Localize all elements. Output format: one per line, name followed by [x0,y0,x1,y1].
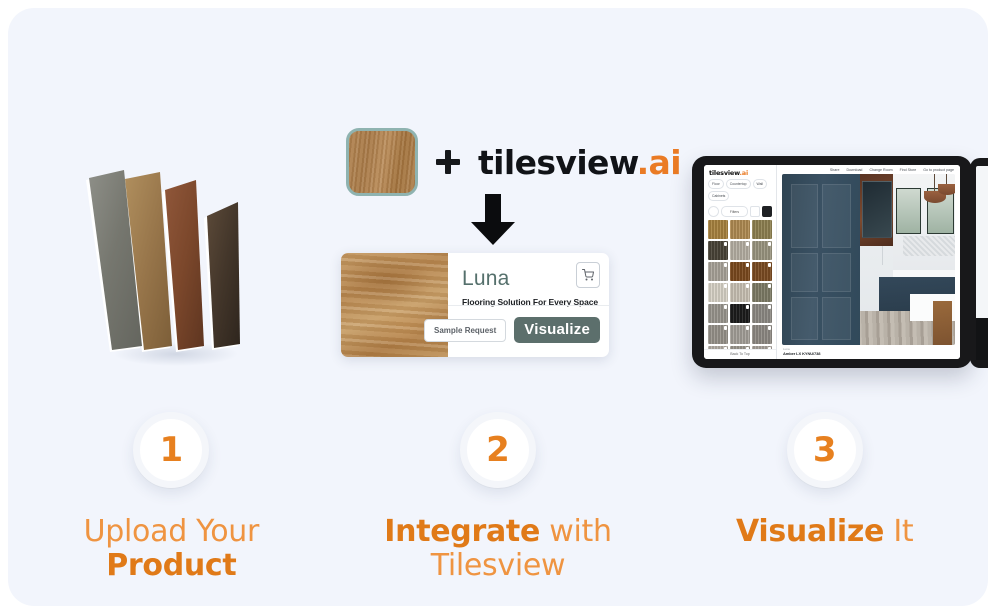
caption-main: Amber LX KYNU/738 [783,351,954,356]
kitchen-counter [893,270,955,277]
tile-swatch[interactable] [708,304,728,323]
tile-swatch[interactable] [752,283,772,302]
room-visualization[interactable] [782,174,955,345]
tablet-brand-suffix: .ai [740,169,748,177]
content-panel: tilesview.ai Luna Flooring Solution For … [8,8,988,606]
tilesview-logo: tilesview.ai [478,146,681,179]
swatch-badge-icon [768,305,772,309]
step-1-circle: 1 [133,412,209,488]
chip-wall[interactable]: Wall [753,179,767,189]
brand-name: tilesview [478,143,637,182]
tile-swatch[interactable] [730,220,750,239]
step-1-line2: Product [106,548,236,583]
step-3-number: 3 [813,433,837,467]
swatch-badge-icon [724,326,728,330]
step-3-circle: 3 [787,412,863,488]
step-1: 1 Upload Your Product [8,412,335,582]
tile-swatch[interactable] [752,304,772,323]
step-1-label: Upload Your Product [84,515,259,582]
grid-view-icon[interactable] [762,206,772,217]
tablet-app: tilesview.ai Floor Countertop Wall Cabin… [704,165,960,359]
step-3-light: It [884,514,913,549]
shopping-cart-icon[interactable] [576,262,600,288]
swatch-badge-icon [768,326,772,330]
swatch-badge-icon [746,326,750,330]
kitchen-tall-cabinets [782,174,860,345]
chip-countertop[interactable]: Countertop [726,179,751,189]
tile-swatch[interactable] [752,262,772,281]
tile-swatch[interactable] [752,220,772,239]
swatch-badge-icon [746,284,750,288]
tablet-brand-name: tilesview [709,169,740,177]
flooring-plank-samples [78,168,278,378]
down-arrow-icon [470,194,516,246]
tablet-category-chips: Floor Countertop Wall Cabinets [704,179,776,204]
swatch-badge-icon [746,263,750,267]
step-3: 3 Visualize It [661,412,988,549]
tablet-logo: tilesview.ai [704,165,776,179]
swatch-badge-icon [724,263,728,267]
pendant-cord-1 [934,174,935,193]
tablet-device: tilesview.ai Floor Countertop Wall Cabin… [692,156,972,368]
kitchen-glass-cabinet [862,181,892,238]
step-2-number: 2 [486,433,510,467]
swatch-badge-icon [724,305,728,309]
step-3-bold: Visualize [736,514,884,549]
toolbar-share[interactable]: Share [830,168,840,172]
toolbar-download[interactable]: Download [846,168,862,172]
kitchen-chair [933,301,952,345]
edge-device-dark-area [976,318,988,360]
step-2-circle: 2 [460,412,536,488]
tile-swatch[interactable] [730,283,750,302]
tile-swatch[interactable] [708,325,728,344]
tile-plus-brand-row: tilesview.ai [346,128,681,196]
step-1-line1: Upload Your [84,514,259,549]
swatch-badge-icon [746,305,750,309]
tablet-screen: tilesview.ai Floor Countertop Wall Cabin… [704,165,960,359]
tile-swatch[interactable] [708,241,728,260]
brand-suffix: .ai [637,143,681,182]
wood-tile-swatch [346,128,418,196]
tile-swatch[interactable] [752,325,772,344]
swatch-badge-icon [746,242,750,246]
kitchen-window-left [896,188,920,234]
tile-swatch[interactable] [708,220,728,239]
kitchen-faucet [882,246,883,265]
swatch-badge-icon [768,347,772,349]
swatch-badge-icon [724,242,728,246]
product-card[interactable]: Luna Flooring Solution For Every Space S… [341,253,609,357]
room-caption: Luna Amber LX KYNU/738 [777,345,960,359]
toolbar-find-store[interactable]: Find Store [900,168,917,172]
product-card-actions: Sample Request Visualize [462,317,600,343]
step-2-label: Integrate with Tilesview [384,515,611,582]
swatch-badge-icon [768,242,772,246]
card-divider [448,305,609,306]
sample-request-button[interactable]: Sample Request [424,319,506,342]
swatch-badge-icon [768,263,772,267]
steps-row: 1 Upload Your Product 2 Integrate with T… [8,412,988,602]
search-icon[interactable] [708,206,719,217]
swatch-badge-icon [724,284,728,288]
tile-swatch[interactable] [730,346,750,349]
chip-cabinets[interactable]: Cabinets [708,191,729,201]
swatch-badge-icon [724,347,728,349]
step-2-line2: Tilesview [431,548,566,583]
tablet-toolbar: Share Download Change Room Find Store Go… [777,165,960,174]
tile-swatch[interactable] [752,346,772,349]
tablet-filter-bar: Filters [704,204,776,220]
toolbar-change-room[interactable]: Change Room [869,168,892,172]
tile-swatch[interactable] [730,262,750,281]
back-to-top-link[interactable]: Back To Top [704,349,776,359]
step-2-light: with [540,514,612,549]
plus-icon [436,150,460,174]
tablet-main: Share Download Change Room Find Store Go… [777,165,960,359]
step-2: 2 Integrate with Tilesview [335,412,662,582]
step-2-bold: Integrate [384,514,540,549]
visualize-button[interactable]: Visualize [514,317,600,343]
edge-device-partial [970,158,988,368]
tile-swatch[interactable] [708,262,728,281]
tile-swatch[interactable] [730,325,750,344]
tile-swatch[interactable] [708,283,728,302]
chip-floor[interactable]: Floor [708,179,724,189]
swatch-badge-icon [768,284,772,288]
product-card-body: Luna Flooring Solution For Every Space S… [448,253,609,357]
swatch-badge-icon [746,347,750,349]
tile-swatch[interactable] [752,241,772,260]
pendant-light-2 [938,184,955,194]
screenshot-root: tilesview.ai Luna Flooring Solution For … [0,0,996,614]
tile-swatch[interactable] [730,241,750,260]
tile-swatch-grid [704,220,776,349]
kitchen-backsplash [903,236,955,257]
filters-dropdown[interactable]: Filters [721,206,748,217]
tile-swatch[interactable] [708,346,728,349]
step-3-label: Visualize It [736,515,913,549]
toolbar-product-page[interactable]: Go to product page [923,168,954,172]
list-view-icon[interactable] [750,206,760,217]
step-1-number: 1 [159,433,183,467]
tile-swatch[interactable] [730,304,750,323]
tablet-sidebar: tilesview.ai Floor Countertop Wall Cabin… [704,165,777,359]
